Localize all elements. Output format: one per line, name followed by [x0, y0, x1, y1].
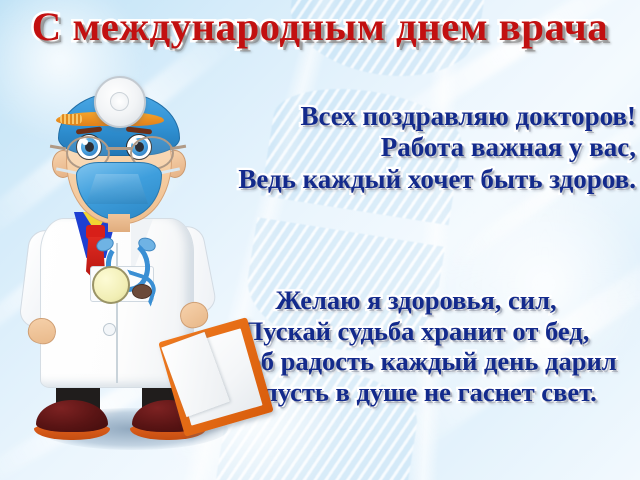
doctor-illustration — [14, 70, 244, 470]
verse-one-line-1: Всех поздравляю докторов! — [200, 101, 636, 132]
mask-fold — [86, 174, 148, 204]
neck — [108, 214, 130, 232]
shoe-left — [36, 400, 108, 442]
verse-two-line-1: Желаю я здоровья, сил, — [196, 285, 636, 316]
stethoscope-bell — [132, 284, 152, 299]
glasses-temple-left — [50, 145, 66, 150]
glasses-temple-right — [170, 145, 186, 150]
shoe-upper — [36, 400, 108, 432]
card-title: С международным днем врача — [0, 6, 640, 48]
doctor-head — [50, 78, 186, 228]
head-mirror-hole — [110, 92, 129, 111]
verse-one: Всех поздравляю докторов! Работа важная … — [200, 101, 636, 195]
verse-two-line-2: Пускай судьба хранит от бед, — [196, 316, 636, 347]
dna-strand-right — [406, 0, 463, 480]
greeting-card: С международным днем врача Всех поздравл… — [0, 0, 640, 480]
verse-one-line-3: Ведь каждый хочет быть здоров. — [200, 164, 636, 195]
verse-one-line-2: Работа важная у вас, — [200, 132, 636, 163]
glasses-bridge — [106, 147, 132, 150]
stethoscope-disc — [92, 266, 130, 304]
cap-band-pattern — [60, 114, 82, 124]
coat-button — [103, 323, 116, 336]
